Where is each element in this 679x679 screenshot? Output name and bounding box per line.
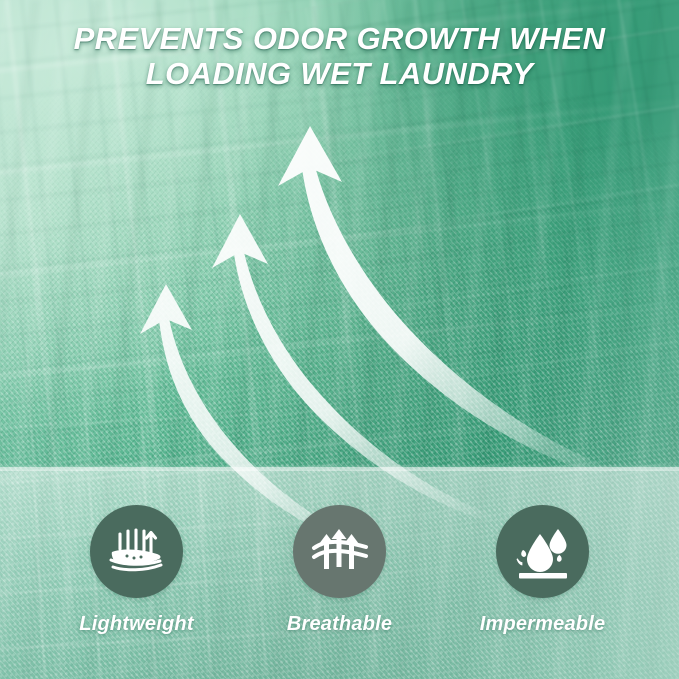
- air-arrows-through-fabric-icon: [293, 505, 386, 598]
- feature-lightweight: Lightweight: [35, 505, 238, 636]
- water-droplets-repelled-icon: [496, 505, 589, 598]
- airflow-arrow-large: [278, 126, 640, 486]
- product-feature-image: PREVENTS ODOR GROWTH WHEN LOADING WET LA…: [0, 0, 679, 679]
- feature-label: Impermeable: [480, 613, 606, 636]
- feature-label: Lightweight: [79, 613, 193, 636]
- feature-label: Breathable: [287, 613, 392, 636]
- feature-impermeable: Impermeable: [441, 505, 644, 636]
- feature-breathable: Breathable: [238, 505, 441, 636]
- headline-text: PREVENTS ODOR GROWTH WHEN LOADING WET LA…: [0, 21, 679, 91]
- feature-row: Lightweight Breathable: [0, 505, 679, 636]
- breathable-fabric-layers-icon: [90, 505, 183, 598]
